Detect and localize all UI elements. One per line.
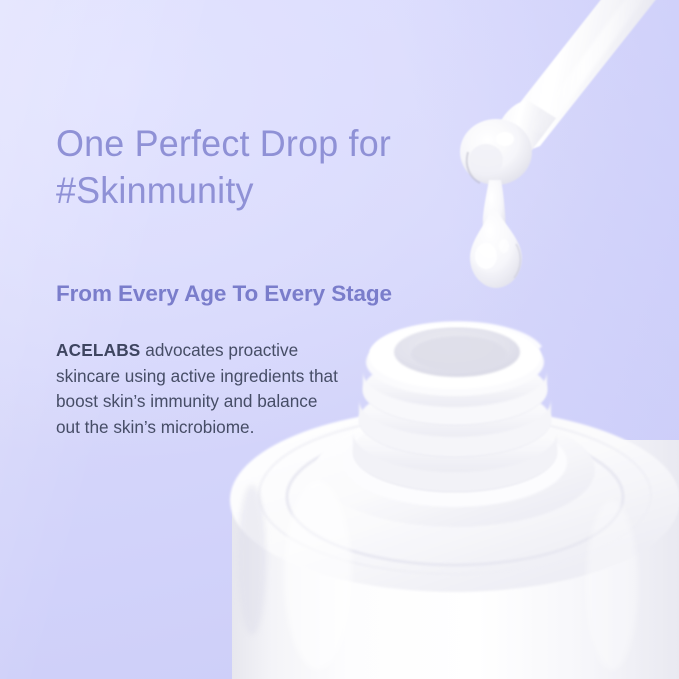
serum-stream: [483, 180, 506, 240]
pipette-barrel: [486, 0, 665, 160]
brand-name: ACELABS: [56, 340, 140, 360]
headline-line-2: #Skinmunity: [56, 167, 444, 214]
promo-canvas: One Perfect Drop for #Skinmunity From Ev…: [0, 0, 679, 679]
body-paragraph: ACELABS advocates proactive skincare usi…: [56, 338, 346, 440]
bottle-body: [230, 408, 679, 679]
serum-droplet: [470, 206, 522, 288]
page-title: One Perfect Drop for #Skinmunity: [56, 73, 444, 261]
bottle-gloss: [238, 480, 638, 670]
headline-line-1: One Perfect Drop for: [56, 123, 391, 164]
pipette-tip-bulb: [460, 119, 532, 185]
subheadline: From Every Age To Every Stage: [56, 280, 456, 308]
copy-block: One Perfect Drop for #Skinmunity From Ev…: [56, 73, 456, 440]
pipette-highlight: [529, 0, 650, 134]
